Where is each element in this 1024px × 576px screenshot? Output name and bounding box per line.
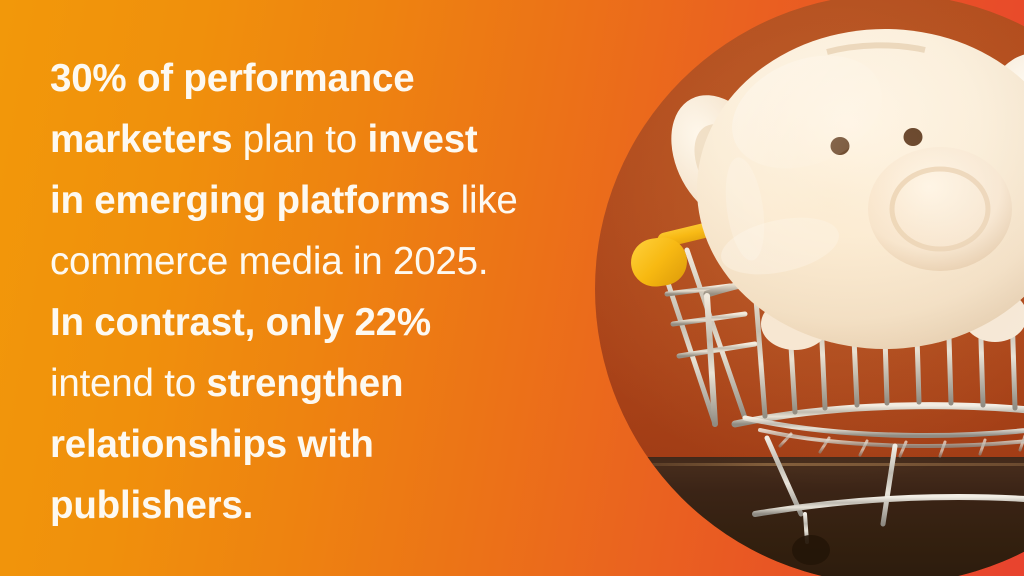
copy-line-2: marketers plan to invest <box>50 109 595 170</box>
copy-line-6: intend to strengthen <box>50 353 595 414</box>
copy-line-1-bold: 30% of performance <box>50 57 414 100</box>
copy-line-3-bold: in emerging platforms <box>50 179 461 222</box>
copy-line-2-bold-b: invest <box>367 118 477 161</box>
copy-line-8-bold: publishers. <box>50 484 253 527</box>
copy-line-2-bold-a: marketers <box>50 118 243 161</box>
copy-line-3: in emerging platforms like <box>50 170 595 231</box>
copy-line-1: 30% of performance <box>50 48 595 109</box>
copy-line-8: publishers. <box>50 475 595 536</box>
copy-line-2-regular: plan to <box>243 118 368 161</box>
copy-line-7: relationships with <box>50 414 595 475</box>
copy-line-5-bold: In contrast, only 22% <box>50 301 431 344</box>
copy-line-5: In contrast, only 22% <box>50 292 595 353</box>
copy-line-4: commerce media in 2025. <box>50 231 595 292</box>
copy-line-6-bold: strengthen <box>206 362 403 405</box>
stat-card-canvas: 30% of performance marketers plan to inv… <box>0 0 1024 576</box>
copy-line-3-regular: like <box>461 179 518 222</box>
piggy-bank-photo <box>595 0 1024 576</box>
copy-line-4-regular: commerce media in 2025. <box>50 240 488 283</box>
headline-copy: 30% of performance marketers plan to inv… <box>50 48 595 536</box>
copy-line-7-bold: relationships with <box>50 423 374 466</box>
copy-line-6-regular: intend to <box>50 362 206 405</box>
photo-lighting-overlay <box>595 0 1024 576</box>
